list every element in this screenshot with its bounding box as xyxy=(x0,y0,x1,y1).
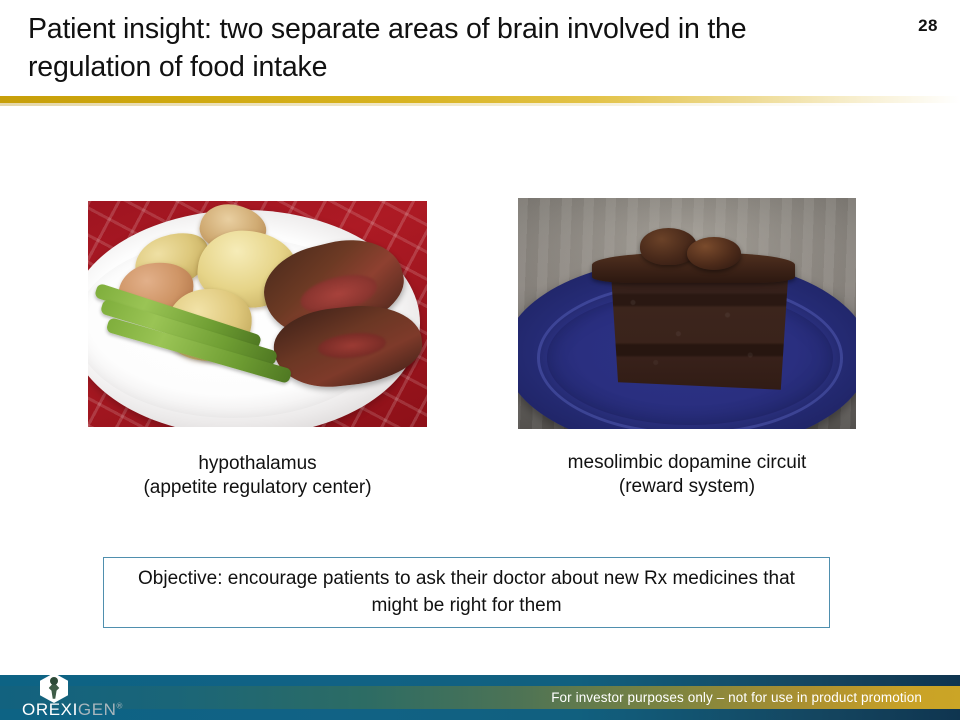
caption-mesolimbic: mesolimbic dopamine circuit (reward syst… xyxy=(518,451,856,500)
slide: Patient insight: two separate areas of b… xyxy=(0,0,960,720)
steak-interior-shape xyxy=(317,330,387,362)
gold-divider-rule xyxy=(0,96,960,103)
logo-wordmark-secondary: GEN xyxy=(78,700,117,719)
caption-line-1: hypothalamus xyxy=(88,452,427,476)
gold-divider-shadow xyxy=(0,103,960,106)
logo-wordmark-primary: OREXI xyxy=(22,700,78,719)
chocolate-cake-photo xyxy=(518,198,856,429)
chocolate-garnish-shape xyxy=(687,237,741,269)
cake-slice-shape xyxy=(599,265,788,390)
footer-disclaimer: For investor purposes only – not for use… xyxy=(551,687,922,709)
logo-wordmark: OREXIGEN® xyxy=(22,700,123,720)
slide-number: 28 xyxy=(918,16,938,36)
cake-crumb-texture xyxy=(599,265,788,390)
objective-box: Objective: encourage patients to ask the… xyxy=(103,557,830,628)
page-title: Patient insight: two separate areas of b… xyxy=(28,11,828,86)
caption-hypothalamus: hypothalamus (appetite regulatory center… xyxy=(88,452,427,501)
caption-line-2: (appetite regulatory center) xyxy=(88,476,427,500)
logo-trademark: ® xyxy=(117,701,124,710)
caption-line-1: mesolimbic dopamine circuit xyxy=(518,451,856,475)
objective-line-1: Objective: encourage patients to ask the… xyxy=(138,568,758,589)
orexigen-logo: OREXIGEN® xyxy=(22,672,152,718)
hexagon-badge-icon xyxy=(40,673,68,703)
caption-line-2: (reward system) xyxy=(518,475,856,499)
plate-of-food-photo xyxy=(88,201,427,427)
objective-text: Objective: encourage patients to ask the… xyxy=(104,566,829,618)
